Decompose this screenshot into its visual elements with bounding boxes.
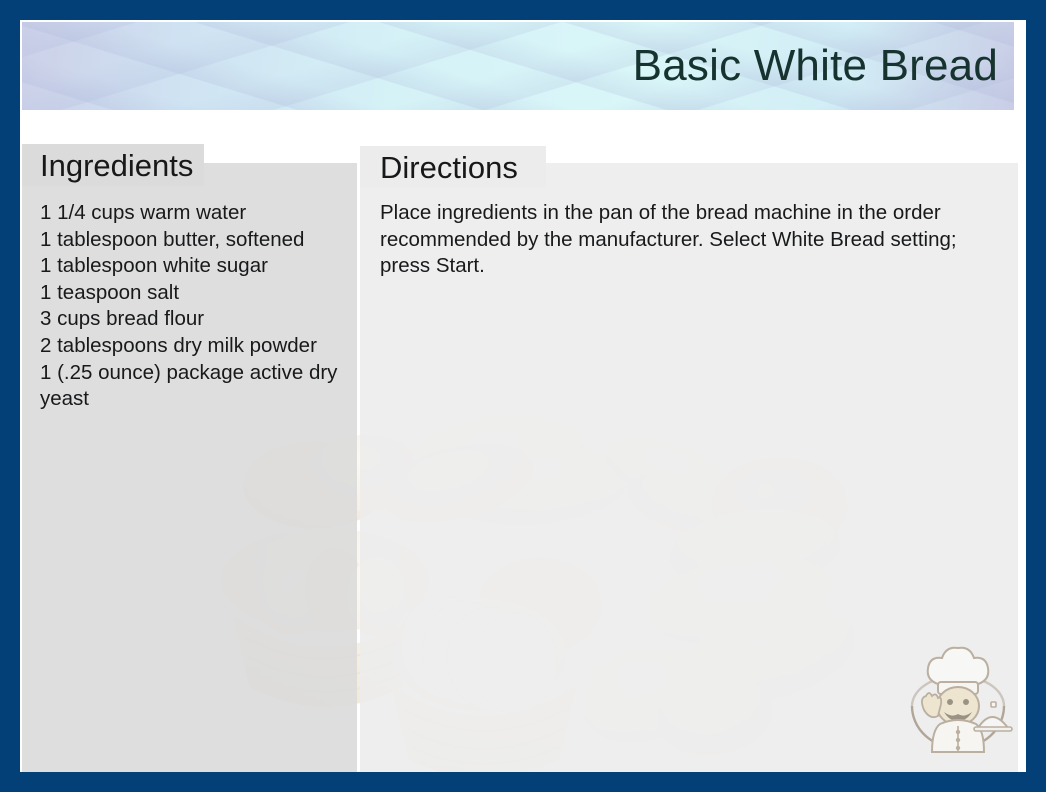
directions-body: Place ingredients in the pan of the brea… — [380, 200, 1000, 280]
slide-inner-canvas: Basic White Bread — [20, 20, 1026, 772]
directions-text: Place ingredients in the pan of the brea… — [380, 200, 1000, 280]
list-item: 2 tablespoons dry milk powder — [40, 333, 360, 360]
header-banner: Basic White Bread — [22, 22, 1014, 110]
list-item: 3 cups bread flour — [40, 306, 360, 333]
list-item: 1 (.25 ounce) package active dry yeast — [40, 360, 360, 413]
page-title: Basic White Bread — [633, 43, 998, 89]
slide-canvas: Basic White Bread — [0, 0, 1046, 792]
list-item: 1 tablespoon white sugar — [40, 253, 360, 280]
ingredients-list: 1 1/4 cups warm water 1 tablespoon butte… — [40, 200, 360, 413]
directions-heading-box: Directions — [360, 146, 546, 188]
ingredients-heading-box: Ingredients — [22, 144, 204, 186]
list-item: 1 1/4 cups warm water — [40, 200, 360, 227]
ingredients-heading: Ingredients — [40, 150, 193, 181]
directions-heading: Directions — [380, 152, 518, 183]
list-item: 1 teaspoon salt — [40, 280, 360, 307]
chef-with-cloche-logo — [898, 644, 1018, 764]
list-item: 1 tablespoon butter, softened — [40, 227, 360, 254]
